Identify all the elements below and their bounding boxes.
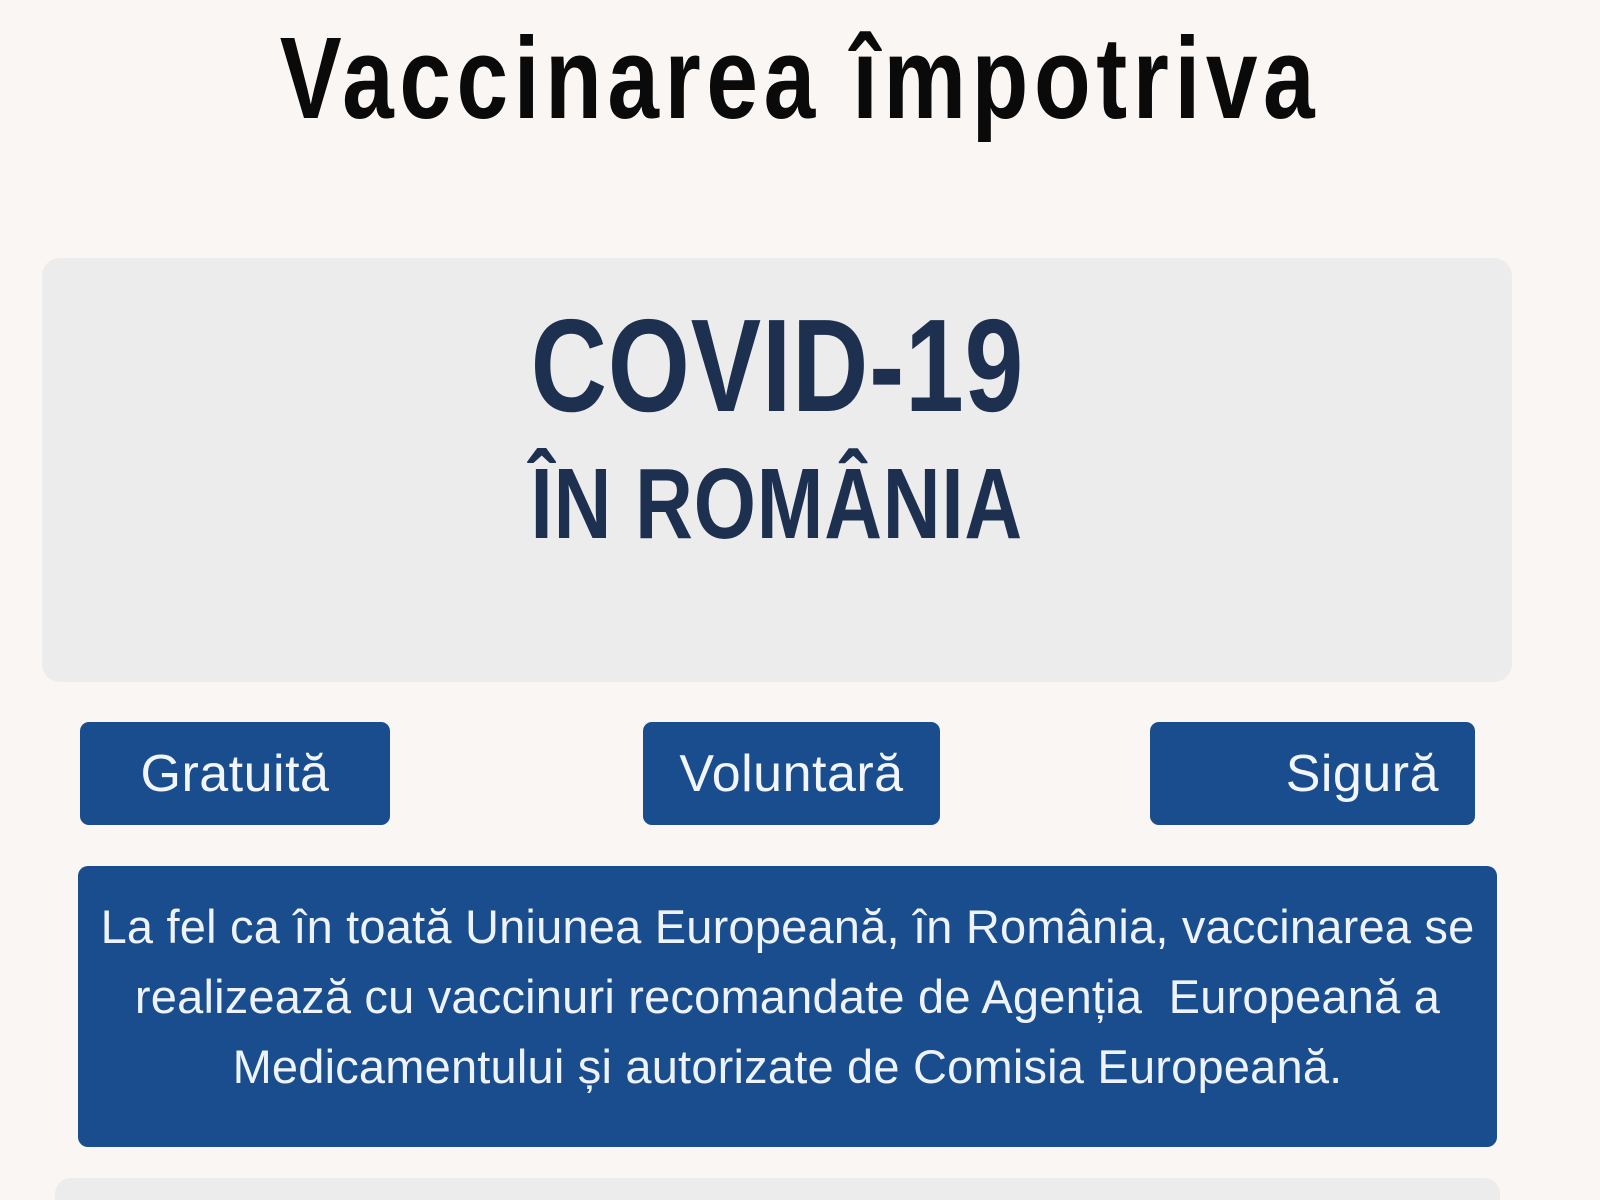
page-title: Vaccinarea împotriva <box>160 14 1440 144</box>
info-callout: La fel ca în toată Uniunea Europeană, în… <box>78 866 1497 1147</box>
info-callout-line: realizează cu vaccinuri recomandate de A… <box>135 962 1440 1032</box>
slide-canvas: Vaccinarea împotriva COVID-19 ÎN ROMÂNIA… <box>0 0 1600 1200</box>
attribute-button-sigura[interactable]: Sigură <box>1150 722 1475 825</box>
info-callout-line: La fel ca în toată Uniunea Europeană, în… <box>101 892 1475 962</box>
hero-card-content: COVID-19 ÎN ROMÂNIA <box>42 258 1512 682</box>
info-callout-line: Medicamentului și autorizate de Comisia … <box>233 1032 1343 1102</box>
attribute-button-gratuita[interactable]: Gratuită <box>80 722 390 825</box>
attribute-button-voluntara[interactable]: Voluntară <box>643 722 940 825</box>
next-card-partial <box>55 1178 1500 1200</box>
hero-subtitle: ÎN ROMÂNIA <box>531 454 1023 554</box>
hero-title: COVID-19 <box>530 300 1023 432</box>
hero-card: COVID-19 ÎN ROMÂNIA <box>42 258 1512 682</box>
